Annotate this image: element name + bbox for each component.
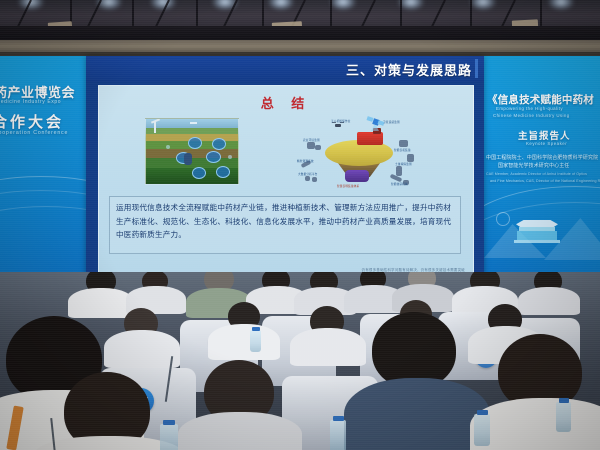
keynote-banner-subtitle-en-1: Empowering the High-quality bbox=[496, 106, 563, 111]
seated-audience: 17 15 bbox=[0, 272, 600, 450]
pagoda-illustration bbox=[492, 204, 592, 264]
left-banner-line1-en: Medicine Industry Expo bbox=[0, 99, 61, 105]
keynote-speaker-label: 主旨报告人 bbox=[518, 128, 571, 142]
presentation-slide: 总 结 bbox=[98, 85, 474, 275]
smart-agriculture-field-photo bbox=[145, 118, 239, 185]
slide-title: 总 结 bbox=[99, 93, 473, 112]
speaker-credential-en-1: CAE Member, Academic Director of Anhui I… bbox=[486, 172, 587, 176]
section-header-title: 三、对策与发展思路 bbox=[346, 60, 472, 79]
water-bottle bbox=[474, 414, 490, 446]
speaker-credential-1: 中国工程院院士、中国科学院合肥物质科学研究院 bbox=[486, 154, 598, 161]
drone-icon bbox=[332, 122, 344, 129]
conference-hall-photo: 药产业博览会 Medicine Industry Expo 合作大会 Coope… bbox=[0, 0, 600, 450]
slide-body-textbox: 运用现代信息技术全流程赋能中药材产业链，推进种植新技术、管理新方法应用推广，提升… bbox=[109, 196, 461, 254]
led-presentation-screen: 三、对策与发展思路 总 结 bbox=[86, 56, 484, 278]
keynote-speaker-label-en: Keynote Speaker bbox=[526, 141, 567, 146]
slide-section-header: 三、对策与发展思路 bbox=[86, 56, 484, 82]
water-bottle bbox=[556, 402, 571, 432]
keynote-banner-title: 《信息技术赋能中药材 bbox=[487, 92, 594, 107]
keynote-banner-subtitle-en-2: Chinese Medicine Industry Using bbox=[493, 113, 570, 118]
water-bottle bbox=[250, 330, 261, 352]
right-keynote-banner: 《信息技术赋能中药材 Empowering the High-quality C… bbox=[484, 56, 600, 278]
left-banner-line2-cn: 合作大会 bbox=[0, 111, 64, 132]
smart-farm-island-diagram: 无人机植保作业 卫星遥感监测 农业环境监测 智能农机装备 精准灌溉系统 土壤墒情… bbox=[295, 114, 423, 192]
water-bottle bbox=[330, 420, 346, 450]
left-banner-line2-en: Cooperation Conference bbox=[0, 130, 68, 136]
water-bottle bbox=[160, 424, 178, 450]
left-event-banner: 药产业博览会 Medicine Industry Expo 合作大会 Coope… bbox=[0, 56, 86, 278]
speaker-credential-2: 国家智能光学技术研究中心主任 bbox=[498, 162, 569, 169]
slide-body-text: 运用现代信息技术全流程赋能中药材产业链，推进种植新技术、管理新方法应用推广，提升… bbox=[116, 201, 454, 242]
speaker-credential-en-2: and Fine Mechanics, CAS, Director of the… bbox=[490, 179, 600, 183]
truss-ceiling bbox=[0, 0, 600, 40]
